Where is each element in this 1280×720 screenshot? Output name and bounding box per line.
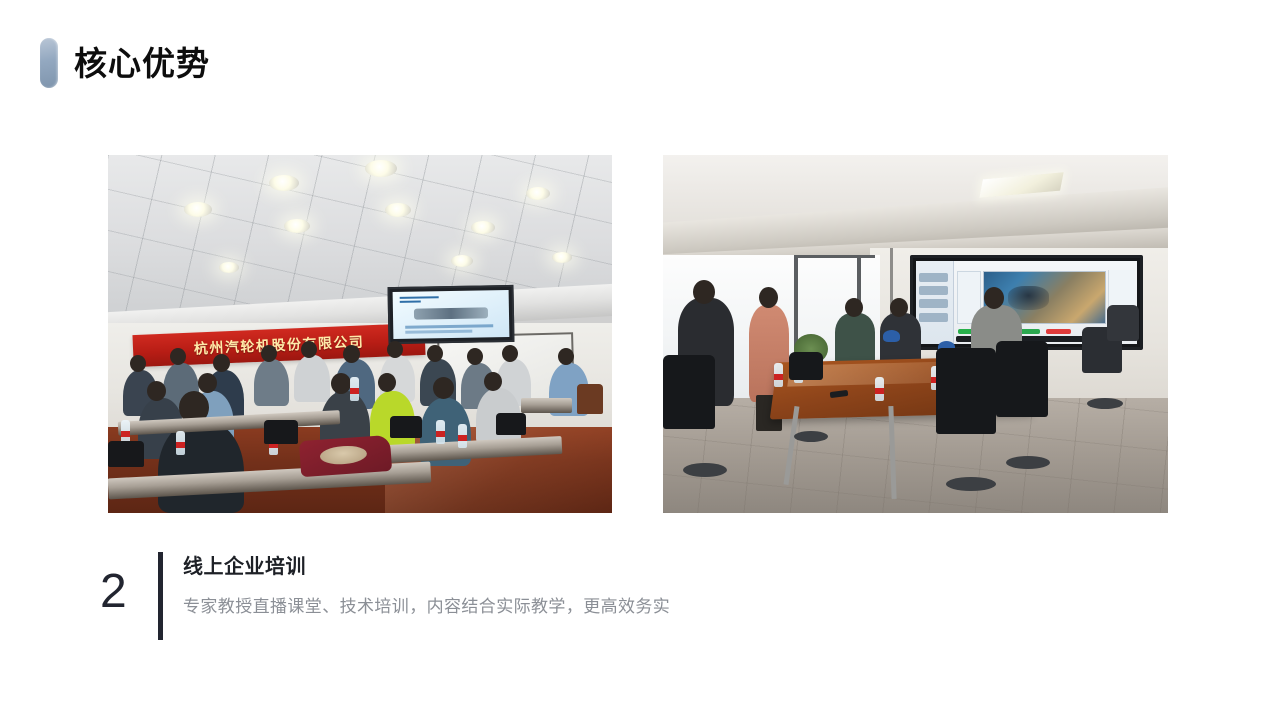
attendee-head	[198, 373, 217, 393]
window-mullion	[794, 255, 875, 258]
classroom-training-photo: 杭州汽轮机股份有限公司	[108, 155, 612, 513]
attendee-head	[427, 345, 443, 362]
office-chair	[1107, 305, 1139, 341]
office-chair	[789, 352, 823, 380]
ceiling-light-icon	[552, 252, 572, 263]
slide-diagram	[413, 307, 487, 320]
attendee-head	[433, 377, 454, 399]
chair-base	[1006, 456, 1050, 469]
seated-attendee-head	[984, 287, 1004, 309]
online-meeting-room-photo	[663, 155, 1168, 513]
attendee-head	[147, 381, 166, 401]
projection-screen-content	[392, 290, 509, 339]
caption-text-group: 线上企业培训 专家教授直播课堂、技术培训，内容结合实际教学，更高效务实	[183, 548, 670, 620]
office-chair	[996, 341, 1048, 417]
attendee-head	[343, 345, 360, 363]
ceiling-light-icon	[269, 175, 299, 191]
caption-divider	[158, 552, 163, 640]
water-bottle	[458, 424, 467, 448]
office-chair	[936, 348, 996, 434]
chair-base	[794, 431, 828, 442]
slide-header: 核心优势	[40, 38, 210, 88]
pill-marker-icon	[40, 38, 58, 88]
slide-root: 核心优势 杭州汽轮机股份有限公司	[0, 0, 1280, 720]
caption-heading: 线上企业培训	[183, 552, 670, 582]
conference-sidebar	[916, 261, 953, 344]
status-badge	[1046, 329, 1070, 334]
participant-thumb	[919, 299, 948, 308]
ceiling-light-icon	[184, 202, 212, 217]
seated-attendee-head	[845, 298, 863, 317]
chair	[264, 420, 298, 444]
attendee	[294, 355, 329, 402]
ceiling-light-icon	[451, 255, 473, 267]
chair	[390, 416, 422, 438]
attendee-head	[387, 341, 403, 358]
page-title: 核心优势	[74, 47, 210, 80]
chair-base	[683, 463, 727, 477]
attendee-head	[261, 345, 277, 362]
chair	[108, 441, 144, 467]
attendee-head	[502, 345, 518, 362]
presenter-table	[521, 398, 571, 412]
water-bottle	[176, 431, 185, 455]
wooden-chair	[577, 384, 603, 414]
item-number: 2	[100, 548, 148, 636]
office-chair	[663, 355, 715, 429]
attendee	[254, 359, 289, 406]
foreground-attendee	[158, 420, 244, 513]
participant-thumb	[919, 286, 948, 295]
participant-thumb	[919, 273, 948, 282]
participant-thumb	[919, 313, 948, 322]
water-bottle	[121, 420, 130, 444]
water-bottle	[350, 377, 359, 401]
water-bottle	[774, 363, 783, 387]
water-bottle	[436, 420, 445, 444]
hard-hat-icon	[883, 330, 900, 342]
attendee-head	[484, 372, 502, 391]
projection-screen	[387, 285, 514, 344]
chair	[496, 413, 526, 435]
caption-block: 2 线上企业培训 专家教授直播课堂、技术培训，内容结合实际教学，更高效务实	[100, 548, 670, 640]
attendee-head	[213, 354, 230, 372]
red-bag	[298, 435, 391, 477]
water-bottle	[875, 377, 884, 401]
caption-body: 专家教授直播课堂、技术培训，内容结合实际教学，更高效务实	[183, 594, 670, 620]
